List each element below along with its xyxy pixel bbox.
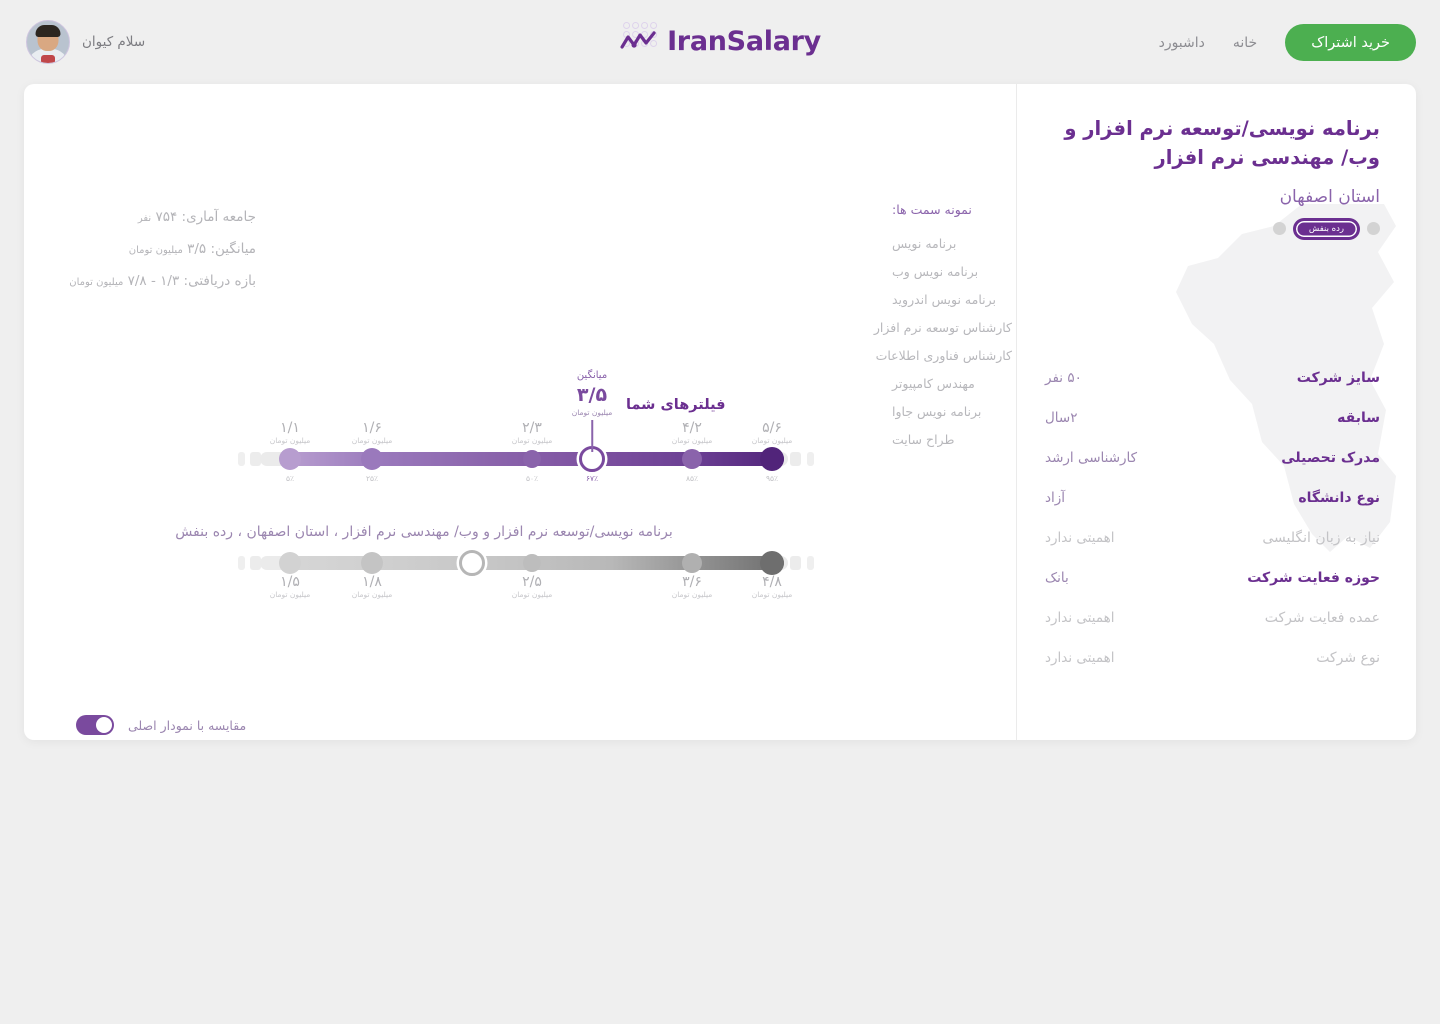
salary-chart: فیلترهای شما <box>24 84 1014 740</box>
attr-row-company-size[interactable]: سایز شرکت ۵۰ نفر <box>1045 358 1380 398</box>
toggle-row-compare-main[interactable]: مقایسه با نمودار اصلی <box>76 710 402 740</box>
attr-row-degree[interactable]: مدرک تحصیلی کارشناسی ارشد <box>1045 438 1380 478</box>
attr-row-main-activity[interactable]: عمده فعایت شرکت اهمیتی ندارد <box>1045 598 1380 638</box>
comparison-tick-p25: ۱/۸ میلیون تومان <box>352 574 393 600</box>
logo-wordmark: IranSalary <box>667 26 821 57</box>
comparison-salary-slider[interactable]: ۱/۵ میلیون تومان ۱/۸ میلیون تومان ۲/۵ می… <box>264 556 784 570</box>
attr-label: حوزه فعایت شرکت <box>1247 570 1380 586</box>
attr-value: کارشناسی ارشد <box>1045 450 1137 466</box>
attr-label: نیاز به زبان انگلیسی <box>1262 530 1380 546</box>
tick-value: ۱/۸ <box>352 574 393 590</box>
track-dash-right <box>790 556 801 570</box>
pct-label-p95: ۹۵٪ <box>766 474 778 483</box>
comparison-knob-p95[interactable] <box>760 551 784 575</box>
attr-row-english-requirement[interactable]: نیاز به زبان انگلیسی اهمیتی ندارد <box>1045 518 1380 558</box>
track-dash-outer-left <box>238 452 245 466</box>
province-label: استان اصفهان <box>1045 187 1380 207</box>
tick-value: ۴/۸ <box>752 574 793 590</box>
tick-unit: میلیون تومان <box>672 590 713 600</box>
toggle-compare-main[interactable] <box>76 715 114 735</box>
your-filters-label: فیلترهای شما <box>626 397 726 413</box>
comparison-caption: برنامه نویسی/توسعه نرم افزار و وب/ مهندس… <box>24 524 824 540</box>
attr-value: بانک <box>1045 570 1069 586</box>
tick-value: ۱/۱ <box>270 420 311 436</box>
main-nav: خرید اشتراک خانه داشبورد <box>1159 24 1416 61</box>
page-title: برنامه نویسی/توسعه نرم افزار و وب/ مهندس… <box>1045 114 1380 173</box>
nav-link-home[interactable]: خانه <box>1233 35 1257 51</box>
pct-label-p5: ۵٪ <box>286 474 294 483</box>
attr-row-university-type[interactable]: نوع دانشگاه آزاد <box>1045 478 1380 518</box>
average-value: ۳/۵ <box>572 383 613 407</box>
comparison-tick-p5: ۱/۵ میلیون تومان <box>270 574 311 600</box>
tick-unit: میلیون تومان <box>672 436 713 446</box>
main-card: برنامه نویسی/توسعه نرم افزار و وب/ مهندس… <box>24 84 1416 740</box>
comparison-knob-p85[interactable] <box>682 553 702 573</box>
tick-value: ۱/۵ <box>270 574 311 590</box>
logo-text-iran: Iran <box>667 26 727 57</box>
attr-label: مدرک تحصیلی <box>1281 450 1380 466</box>
attr-value: اهمیتی ندارد <box>1045 530 1115 546</box>
comparison-knob-p25[interactable] <box>361 552 383 574</box>
logo-chart-icon <box>619 22 659 60</box>
attr-value: ۲سال <box>1045 410 1078 426</box>
average-callout: میانگین ۳/۵ میلیون تومان <box>572 369 613 418</box>
track-dash-right <box>790 452 801 466</box>
tick-unit: میلیون تومان <box>352 590 393 600</box>
pct-label-p50: ۵۰٪ <box>526 474 538 483</box>
tick-label-p50: ۲/۳ میلیون تومان <box>512 420 553 446</box>
nav-link-dashboard[interactable]: داشبورد <box>1159 35 1205 51</box>
tick-label-p95: ۵/۶ میلیون تومان <box>752 420 793 446</box>
comparison-tick-p95: ۴/۸ میلیون تومان <box>752 574 793 600</box>
tick-value: ۵/۶ <box>752 420 793 436</box>
track-dash-outer-right <box>807 452 814 466</box>
attr-value: ۵۰ نفر <box>1045 370 1082 386</box>
slider-knob-p5[interactable] <box>279 448 301 470</box>
slider-knob-p25[interactable] <box>361 448 383 470</box>
comparison-tick-p50: ۲/۵ میلیون تومان <box>512 574 553 600</box>
toggle-thumb-icon <box>96 717 112 733</box>
attr-label: سابقه <box>1337 410 1380 426</box>
page-root: سلام کیوان IranSalary خرید اشتراک خانه <box>0 0 1440 1024</box>
tick-unit: میلیون تومان <box>752 436 793 446</box>
attr-value: آزاد <box>1045 490 1065 506</box>
rank-dot-left-icon[interactable] <box>1273 222 1286 235</box>
avatar-hair <box>36 25 61 37</box>
status-badge[interactable]: رده بنفش <box>1295 220 1358 238</box>
greeting-text: سلام کیوان <box>82 34 145 50</box>
average-unit: میلیون تومان <box>572 407 613 418</box>
comparison-tick-p85: ۳/۶ میلیون تومان <box>672 574 713 600</box>
user-block[interactable]: سلام کیوان <box>26 20 145 64</box>
attr-label: سایز شرکت <box>1297 370 1380 386</box>
tick-value: ۲/۳ <box>512 420 553 436</box>
track-dash-outer-left <box>238 556 245 570</box>
tick-label-p25: ۱/۶ میلیون تومان <box>352 420 393 446</box>
avatar[interactable] <box>26 20 70 64</box>
tick-unit: میلیون تومان <box>752 590 793 600</box>
rank-dot-right-icon[interactable] <box>1367 222 1380 235</box>
tick-label-p85: ۴/۲ میلیون تومان <box>672 420 713 446</box>
toggle-label: مقایسه با نمودار اصلی <box>128 718 246 733</box>
tick-label-p5: ۱/۱ میلیون تومان <box>270 420 311 446</box>
comparison-knob-p5[interactable] <box>279 552 301 574</box>
avatar-collar <box>41 55 55 63</box>
buy-subscription-button[interactable]: خرید اشتراک <box>1285 24 1416 61</box>
attr-label: نوع دانشگاه <box>1298 490 1380 506</box>
attr-value: اهمیتی ندارد <box>1045 650 1115 666</box>
tick-unit: میلیون تومان <box>352 436 393 446</box>
attr-label: عمده فعایت شرکت <box>1265 610 1380 626</box>
filter-summary-panel: برنامه نویسی/توسعه نرم افزار و وب/ مهندس… <box>1016 84 1416 740</box>
comparison-knob-marker[interactable] <box>459 550 485 576</box>
attr-row-experience[interactable]: سابقه ۲سال <box>1045 398 1380 438</box>
track-dash-outer-right <box>807 556 814 570</box>
attr-row-company-type[interactable]: نوع شرکت اهمیتی ندارد <box>1045 638 1380 678</box>
top-bar: سلام کیوان IranSalary خرید اشتراک خانه <box>0 0 1440 84</box>
rank-badge-row: رده بنفش <box>1045 220 1380 238</box>
tick-value: ۳/۶ <box>672 574 713 590</box>
pct-label-p25: ۲۵٪ <box>366 474 378 483</box>
average-connector-line <box>591 420 593 452</box>
comparison-knob-p50[interactable] <box>523 554 541 572</box>
tick-unit: میلیون تومان <box>512 436 553 446</box>
slider-knob-p95[interactable] <box>760 447 784 471</box>
logo-text-salary: Salary <box>727 26 821 57</box>
average-label: میانگین <box>572 369 613 383</box>
panel-header: برنامه نویسی/توسعه نرم افزار و وب/ مهندس… <box>1045 114 1380 238</box>
brand-logo[interactable]: IranSalary <box>619 22 821 60</box>
tick-unit: میلیون تومان <box>512 590 553 600</box>
tick-unit: میلیون تومان <box>270 590 311 600</box>
tick-value: ۱/۶ <box>352 420 393 436</box>
attr-row-company-field[interactable]: حوزه فعایت شرکت بانک <box>1045 558 1380 598</box>
tick-value: ۴/۲ <box>672 420 713 436</box>
attribute-list: سایز شرکت ۵۰ نفر سابقه ۲سال مدرک تحصیلی … <box>1045 358 1380 678</box>
slider-knob-p85[interactable] <box>682 449 702 469</box>
attr-label: نوع شرکت <box>1316 650 1380 666</box>
tick-unit: میلیون تومان <box>270 436 311 446</box>
slider-knob-p50[interactable] <box>523 450 541 468</box>
pct-label-p85: ۸۵٪ <box>686 474 698 483</box>
tick-value: ۲/۵ <box>512 574 553 590</box>
attr-value: اهمیتی ندارد <box>1045 610 1115 626</box>
chart-options: مقایسه با نمودار اصلی نمایش افراد مشابه … <box>76 710 402 740</box>
pct-label-average: ۶۷٪ <box>586 474 598 483</box>
primary-salary-slider[interactable]: میانگین ۳/۵ میلیون تومان ۱/۱ میلیون توما… <box>264 452 784 466</box>
